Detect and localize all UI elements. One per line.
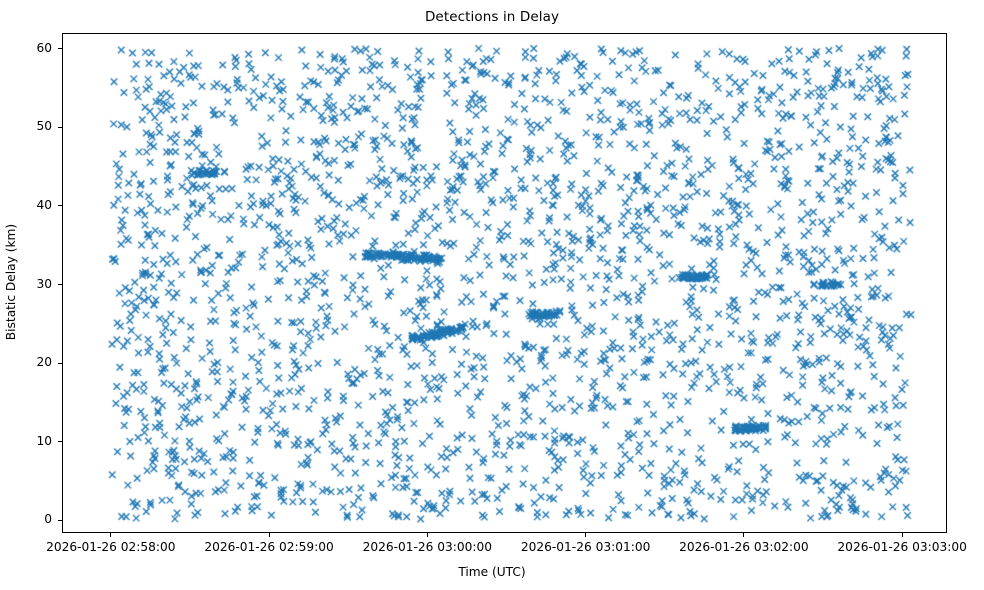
x-tick-label: 2026-01-26 02:59:00 xyxy=(204,540,333,554)
x-tick-mark xyxy=(110,533,111,537)
x-tick-label: 2026-01-26 03:02:00 xyxy=(679,540,808,554)
y-tick-label: 60 xyxy=(36,41,52,55)
x-tick-label: 2026-01-26 03:03:00 xyxy=(837,540,966,554)
x-tick-mark xyxy=(743,533,744,537)
y-tick-label: 10 xyxy=(36,434,52,448)
x-tick-mark xyxy=(269,533,270,537)
y-tick-label: 20 xyxy=(36,355,52,369)
x-tick-label: 2026-01-26 03:00:00 xyxy=(363,540,492,554)
x-tick-label: 2026-01-26 02:58:00 xyxy=(46,540,175,554)
x-axis-label: Time (UTC) xyxy=(0,565,984,579)
x-tick-mark xyxy=(427,533,428,537)
y-tick-label: 40 xyxy=(36,198,52,212)
matplotlib-figure: Detections in Delay Bistatic Delay (km) … xyxy=(0,0,984,590)
plot-area xyxy=(62,33,947,533)
x-tick-mark xyxy=(902,533,903,537)
y-tick-label: 30 xyxy=(36,277,52,291)
x-tick-mark xyxy=(585,533,586,537)
y-tick-label: 0 xyxy=(44,512,52,526)
x-tick-label: 2026-01-26 03:01:00 xyxy=(521,540,650,554)
page-title: Detections in Delay xyxy=(0,9,984,25)
y-axis-label: Bistatic Delay (km) xyxy=(4,222,18,342)
scatter-points-canvas xyxy=(63,34,947,533)
y-tick-label: 50 xyxy=(36,119,52,133)
